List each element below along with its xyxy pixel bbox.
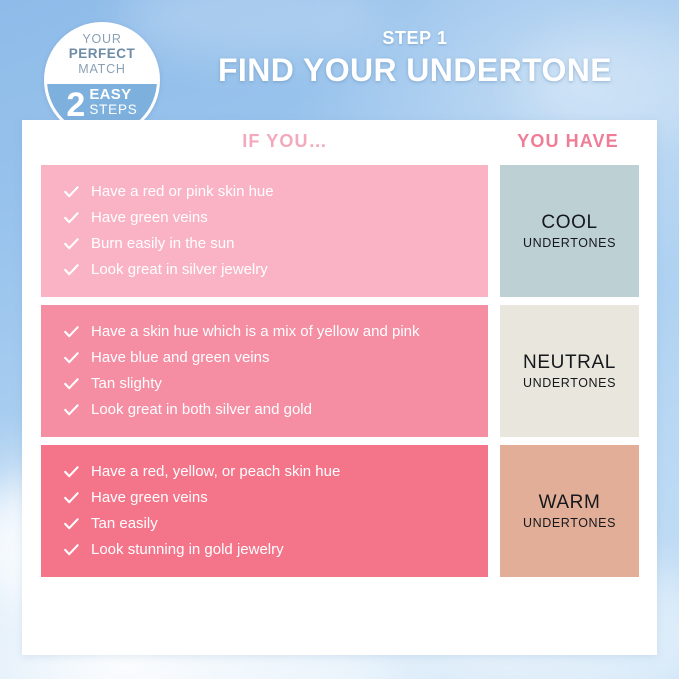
- undertone-rows: Have a red or pink skin hueHave green ve…: [22, 165, 657, 585]
- undertone-swatch: COOLUNDERTONES: [500, 165, 639, 297]
- badge-line-match: MATCH: [78, 62, 126, 77]
- criteria-item: Have a skin hue which is a mix of yellow…: [59, 319, 474, 345]
- column-headers: IF YOU… YOU HAVE: [22, 129, 657, 161]
- badge-steps-text: EASY STEPS: [89, 87, 137, 117]
- checkmark-icon: [59, 512, 83, 536]
- title-block: STEP 1 FIND YOUR UNDERTONE: [175, 27, 655, 89]
- undertone-swatch: WARMUNDERTONES: [500, 445, 639, 577]
- swatch-subtitle: UNDERTONES: [523, 235, 616, 251]
- badge-label-easy: EASY: [89, 87, 131, 102]
- page-title: FIND YOUR UNDERTONE: [175, 51, 655, 89]
- swatch-subtitle: UNDERTONES: [523, 515, 616, 531]
- criteria-item-label: Tan slighty: [91, 372, 474, 396]
- swatch-name: COOL: [541, 211, 597, 234]
- checkmark-icon: [59, 346, 83, 370]
- step-label: STEP 1: [175, 27, 655, 49]
- criteria-item-label: Look great in silver jewelry: [91, 258, 474, 282]
- checkmark-icon: [59, 180, 83, 204]
- criteria-item-label: Have green veins: [91, 206, 474, 230]
- criteria-item: Look great in silver jewelry: [59, 257, 474, 283]
- criteria-item-label: Have a skin hue which is a mix of yellow…: [91, 320, 474, 344]
- swatch-name: WARM: [539, 491, 601, 514]
- criteria-item: Look stunning in gold jewelry: [59, 537, 474, 563]
- criteria-list: Have a red, yellow, or peach skin hueHav…: [41, 445, 488, 577]
- column-header-if-you: IF YOU…: [210, 129, 360, 153]
- criteria-item: Have green veins: [59, 205, 474, 231]
- badge-top-half: YOUR PERFECT MATCH: [47, 25, 157, 84]
- checkmark-icon: [59, 320, 83, 344]
- swatch-subtitle: UNDERTONES: [523, 375, 616, 391]
- criteria-item: Burn easily in the sun: [59, 231, 474, 257]
- criteria-item-label: Tan easily: [91, 512, 474, 536]
- checkmark-icon: [59, 232, 83, 256]
- checkmark-icon: [59, 538, 83, 562]
- badge-line-your: YOUR: [82, 32, 121, 46]
- infographic-canvas: YOUR PERFECT MATCH 2 EASY STEPS STEP 1 F…: [0, 0, 679, 679]
- checkmark-icon: [59, 258, 83, 282]
- criteria-item-label: Look great in both silver and gold: [91, 398, 474, 422]
- criteria-item: Have green veins: [59, 485, 474, 511]
- criteria-item-label: Look stunning in gold jewelry: [91, 538, 474, 562]
- undertone-row: Have a skin hue which is a mix of yellow…: [22, 305, 657, 437]
- criteria-item: Have a red, yellow, or peach skin hue: [59, 459, 474, 485]
- criteria-item: Have blue and green veins: [59, 345, 474, 371]
- criteria-item: Tan slighty: [59, 371, 474, 397]
- criteria-item-label: Have green veins: [91, 486, 474, 510]
- undertone-swatch: NEUTRALUNDERTONES: [500, 305, 639, 437]
- badge-step-count: 2: [66, 88, 85, 122]
- undertone-row: Have a red, yellow, or peach skin hueHav…: [22, 445, 657, 577]
- checkmark-icon: [59, 486, 83, 510]
- badge-label-steps: STEPS: [89, 102, 137, 117]
- criteria-item-label: Have a red or pink skin hue: [91, 180, 474, 204]
- criteria-item: Tan easily: [59, 511, 474, 537]
- criteria-item: Have a red or pink skin hue: [59, 179, 474, 205]
- checkmark-icon: [59, 372, 83, 396]
- column-header-you-have: YOU HAVE: [478, 129, 658, 153]
- criteria-item: Look great in both silver and gold: [59, 397, 474, 423]
- header: YOUR PERFECT MATCH 2 EASY STEPS STEP 1 F…: [0, 0, 679, 120]
- undertone-row: Have a red or pink skin hueHave green ve…: [22, 165, 657, 297]
- criteria-item-label: Have a red, yellow, or peach skin hue: [91, 460, 474, 484]
- checkmark-icon: [59, 460, 83, 484]
- criteria-item-label: Burn easily in the sun: [91, 232, 474, 256]
- swatch-name: NEUTRAL: [523, 351, 616, 374]
- criteria-list: Have a skin hue which is a mix of yellow…: [41, 305, 488, 437]
- criteria-list: Have a red or pink skin hueHave green ve…: [41, 165, 488, 297]
- criteria-item-label: Have blue and green veins: [91, 346, 474, 370]
- checkmark-icon: [59, 206, 83, 230]
- badge-line-perfect: PERFECT: [69, 46, 136, 62]
- content-card: IF YOU… YOU HAVE Have a red or pink skin…: [22, 120, 657, 655]
- checkmark-icon: [59, 398, 83, 422]
